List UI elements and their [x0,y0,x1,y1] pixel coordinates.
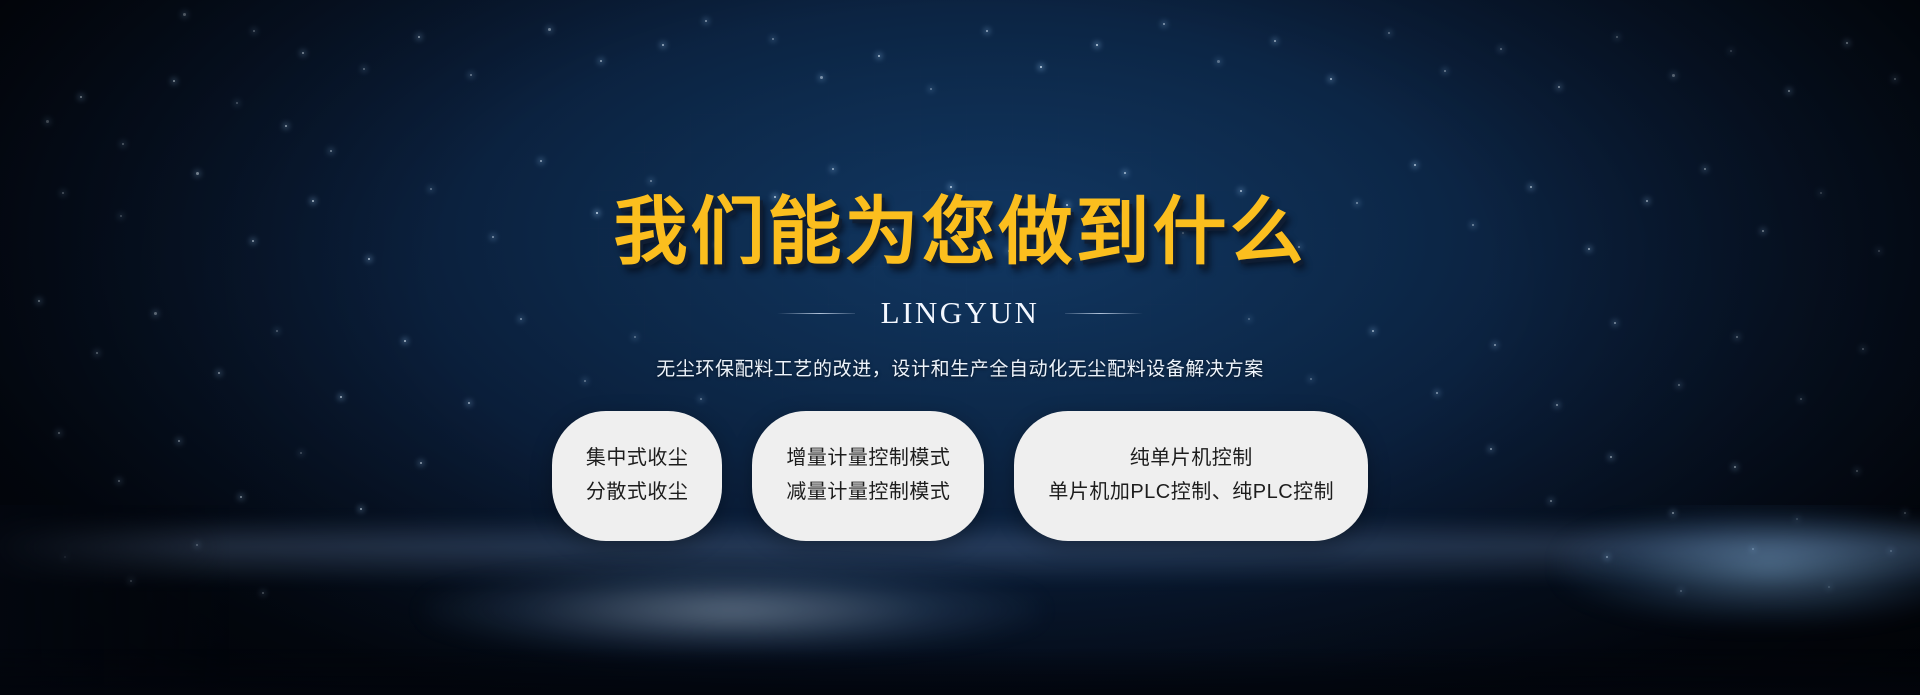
pill-line: 分散式收尘 [586,481,689,505]
pill-line: 增量计量控制模式 [786,447,950,471]
feature-pill-dust-collection[interactable]: 集中式收尘 分散式收尘 [552,411,723,541]
feature-pill-metering-control-mode[interactable]: 增量计量控制模式 减量计量控制模式 [752,411,984,541]
banner-description: 无尘环保配料工艺的改进，设计和生产全自动化无尘配料设备解决方案 [656,354,1264,381]
divider-line-left [777,313,855,314]
banner-content: 我们能为您做到什么 LINGYUN 无尘环保配料工艺的改进，设计和生产全自动化无… [0,0,1920,695]
pill-line: 纯单片机控制 [1130,447,1253,471]
pill-line: 减量计量控制模式 [786,481,950,505]
feature-pill-controller-type[interactable]: 纯单片机控制 单片机加PLC控制、纯PLC控制 [1014,411,1368,541]
hero-banner: 我们能为您做到什么 LINGYUN 无尘环保配料工艺的改进，设计和生产全自动化无… [0,0,1920,695]
pill-line: 单片机加PLC控制、纯PLC控制 [1048,481,1334,505]
divider-line-right [1065,313,1143,314]
banner-subtitle-en: LINGYUN [881,295,1040,331]
pill-line: 集中式收尘 [586,447,689,471]
feature-pill-list: 集中式收尘 分散式收尘 增量计量控制模式 减量计量控制模式 纯单片机控制 单片机… [552,411,1368,541]
banner-headline: 我们能为您做到什么 [614,195,1307,269]
subtitle-row: LINGYUN [777,295,1144,331]
